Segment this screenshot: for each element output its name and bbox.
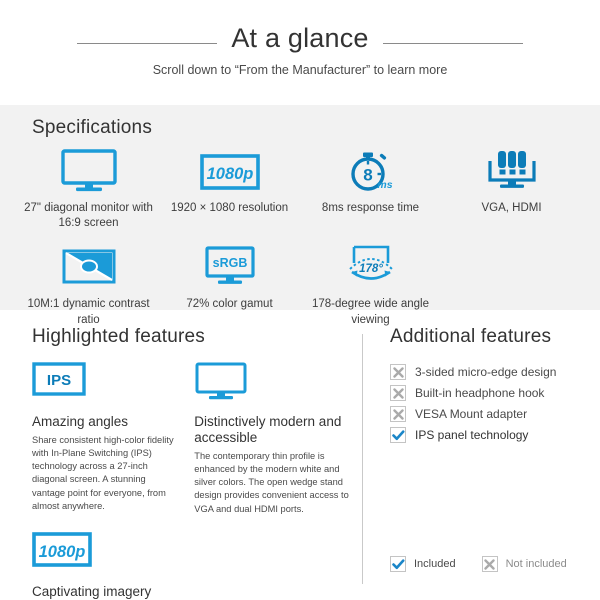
header-subtitle: Scroll down to “From the Manufacturer” t… xyxy=(0,63,600,77)
ips-badge-icon: IPS xyxy=(32,362,178,404)
additional-features-list: 3-sided micro-edge design Built-in headp… xyxy=(390,364,600,443)
svg-text:1080p: 1080p xyxy=(206,165,253,183)
specifications-heading: Specifications xyxy=(0,105,600,139)
spec-label: VGA, HDMI xyxy=(481,201,541,216)
cross-icon xyxy=(390,364,406,380)
spec-label: 8ms response time xyxy=(322,201,419,216)
spec-item-monitor: 27" diagonal monitor with 16:9 screen xyxy=(18,147,159,231)
spec-label: 1920 × 1080 resolution xyxy=(171,201,288,216)
spec-item-response-time: 8 ms 8ms response time xyxy=(300,147,441,231)
list-item-label: Built-in headphone hook xyxy=(415,386,544,400)
srgb-gamut-icon: sRGB xyxy=(201,243,259,289)
svg-text:178°: 178° xyxy=(359,263,383,275)
cross-icon xyxy=(482,556,498,572)
page-title: At a glance xyxy=(231,24,368,54)
svg-text:sRGB: sRGB xyxy=(212,256,247,270)
title-row: At a glance xyxy=(0,24,600,54)
feature-captivating-imagery: 1080p Captivating imagery Color and clar… xyxy=(32,532,322,600)
resolution-1080p-icon: 1080p xyxy=(199,147,261,193)
additional-features-heading: Additional features xyxy=(390,326,600,348)
feature-amazing-angles: IPS Amazing angles Share consistent high… xyxy=(32,362,178,516)
list-item: IPS panel technology xyxy=(390,427,600,443)
header: At a glance Scroll down to “From the Man… xyxy=(0,0,600,77)
list-item-label: IPS panel technology xyxy=(415,428,528,442)
feature-title: Distinctively modern and accessible xyxy=(194,414,362,446)
highlighted-features-row: IPS Amazing angles Share consistent high… xyxy=(32,362,362,516)
contrast-ratio-icon xyxy=(60,243,118,289)
resolution-1080p-icon: 1080p xyxy=(32,532,322,574)
spec-label: 72% color gamut xyxy=(186,297,272,312)
title-rule-left xyxy=(77,43,217,44)
spec-item-ports: VGA, HDMI xyxy=(441,147,582,231)
feature-title: Amazing angles xyxy=(32,414,178,430)
spec-item-resolution: 1080p 1920 × 1080 resolution xyxy=(159,147,300,231)
cross-icon xyxy=(390,406,406,422)
feature-distinctively-modern: Distinctively modern and accessible The … xyxy=(194,362,362,516)
list-item-label: 3-sided micro-edge design xyxy=(415,365,556,379)
feature-title: Captivating imagery xyxy=(32,584,322,600)
legend-not-included-label: Not included xyxy=(506,558,567,570)
list-item: Built-in headphone hook xyxy=(390,385,600,401)
check-icon xyxy=(390,427,406,443)
list-item: 3-sided micro-edge design xyxy=(390,364,600,380)
cross-icon xyxy=(390,385,406,401)
infographic-page: At a glance Scroll down to “From the Man… xyxy=(0,0,600,600)
svg-text:IPS: IPS xyxy=(47,372,71,389)
svg-text:8: 8 xyxy=(363,166,372,185)
svg-text:1080p: 1080p xyxy=(39,543,86,561)
additional-features-section: Additional features 3-sided micro-edge d… xyxy=(362,312,600,600)
thin-monitor-icon xyxy=(194,362,362,404)
feature-body: Share consistent high-color fidelity wit… xyxy=(32,434,178,513)
highlighted-features-section: Highlighted features IPS Amazing angles … xyxy=(0,312,362,600)
feature-body: The contemporary thin profile is enhance… xyxy=(194,450,362,516)
lower-section: Highlighted features IPS Amazing angles … xyxy=(0,312,600,600)
ports-icon xyxy=(484,147,540,193)
svg-text:ms: ms xyxy=(377,179,392,191)
monitor-icon xyxy=(60,147,118,193)
stopwatch-icon: 8 ms xyxy=(343,147,399,193)
list-item: VESA Mount adapter xyxy=(390,406,600,422)
viewing-angle-icon: 178° xyxy=(340,243,402,289)
title-rule-right xyxy=(383,43,523,44)
spec-label: 27" diagonal monitor with 16:9 screen xyxy=(21,201,156,231)
check-icon xyxy=(390,556,406,572)
list-item-label: VESA Mount adapter xyxy=(415,407,527,421)
legend-included-label: Included xyxy=(414,558,456,570)
highlighted-features-heading: Highlighted features xyxy=(32,326,362,348)
legend: Included Not included xyxy=(390,556,567,572)
specifications-section: Specifications 27" diagonal monitor with… xyxy=(0,105,600,310)
specifications-row-1: 27" diagonal monitor with 16:9 screen 10… xyxy=(0,139,600,231)
